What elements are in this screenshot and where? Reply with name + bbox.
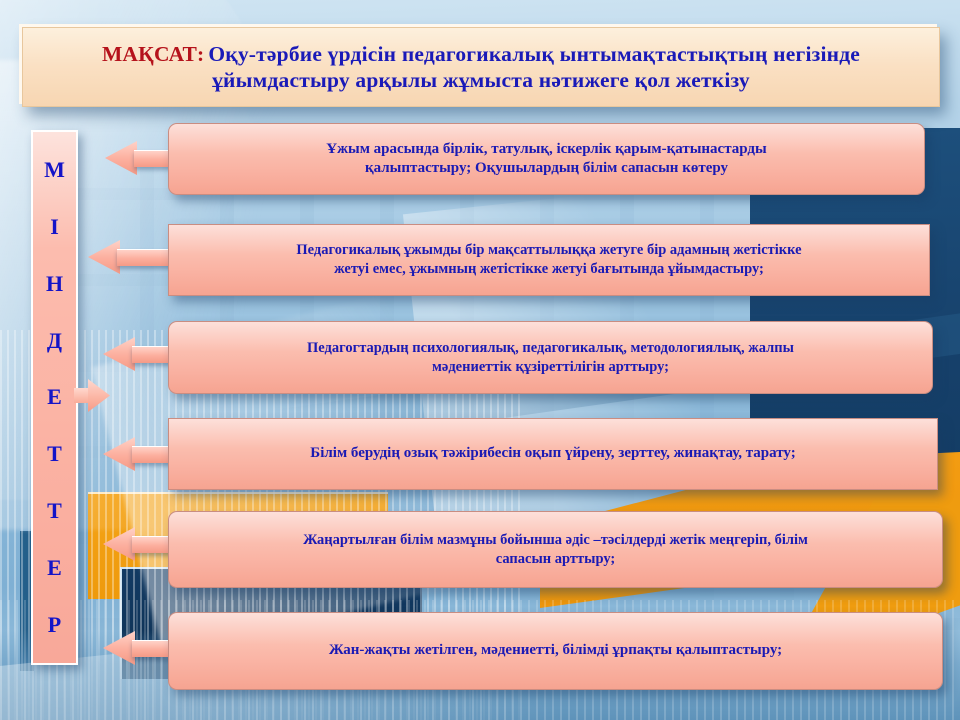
arrow-head bbox=[103, 527, 135, 561]
goal-banner: МАҚСАТ: Оқу-тәрбие үрдісін педагогикалық… bbox=[22, 27, 940, 107]
goal-banner-label: МАҚСАТ: bbox=[102, 42, 204, 66]
task-box-5-line-2: сапасын арттыру; bbox=[496, 551, 615, 567]
connector-arrow-1-icon bbox=[105, 141, 175, 175]
task-box-1[interactable]: Ұжым арасында бірлік, татулық, іскерлік … bbox=[168, 123, 925, 195]
sidebar-letter-7: Е bbox=[47, 557, 62, 579]
connector-arrow-4-icon bbox=[103, 437, 175, 471]
task-box-4-text: Білім берудің озық тәжірибесін оқып үйре… bbox=[310, 444, 795, 464]
slide-canvas: МАҚСАТ: Оқу-тәрбие үрдісін педагогикалық… bbox=[0, 0, 960, 720]
task-box-1-line-2: қалыптастыру; Оқушылардың білім сапасын … bbox=[365, 160, 728, 176]
task-box-2-text: Педагогикалық ұжымды бір мақсаттылыққа ж… bbox=[296, 241, 801, 279]
task-box-4[interactable]: Білім берудің озық тәжірибесін оқып үйре… bbox=[168, 418, 938, 490]
task-box-6[interactable]: Жан-жақты жетілген, мәдениетті, білімді … bbox=[168, 612, 943, 690]
sidebar-letter-4: Е bbox=[47, 386, 62, 408]
task-box-6-line-1: Жан-жақты жетілген, мәдениетті, білімді … bbox=[329, 642, 782, 658]
task-box-2-line-2: жетуі емес, ұжымның жетістікке жетуі бағ… bbox=[334, 261, 764, 277]
connector-arrow-6-icon bbox=[103, 631, 175, 665]
connector-arrow-3-icon bbox=[103, 337, 175, 371]
arrow-head bbox=[105, 141, 137, 175]
sidebar-letter-5: Т bbox=[47, 443, 62, 465]
arrow-shaft bbox=[74, 388, 90, 403]
sidebar-letter-3: Д bbox=[47, 330, 62, 352]
task-box-3-line-2: мәдениеттік құзіреттілігін арттыру; bbox=[432, 359, 669, 375]
arrow-shaft bbox=[117, 249, 175, 266]
arrow-head bbox=[103, 337, 135, 371]
tasks-vertical-label: М І Н Д Е Т Т Е Р bbox=[31, 130, 78, 665]
task-box-3-line-1: Педагогтардың психологиялық, педагогикал… bbox=[307, 340, 794, 356]
task-box-1-line-1: Ұжым арасында бірлік, татулық, іскерлік … bbox=[326, 141, 766, 157]
goal-banner-line-1: Оқу-тәрбие үрдісін педагогикалық ынтымақ… bbox=[208, 42, 860, 66]
arrow-head bbox=[88, 240, 120, 274]
sidebar-letter-2: Н bbox=[46, 273, 63, 295]
task-box-2-line-1: Педагогикалық ұжымды бір мақсаттылыққа ж… bbox=[296, 242, 801, 258]
task-box-5-text: Жаңартылған білім мазмұны бойынша әдіс –… bbox=[303, 531, 808, 569]
task-box-5-line-1: Жаңартылған білім мазмұны бойынша әдіс –… bbox=[303, 532, 808, 548]
task-box-1-text: Ұжым арасында бірлік, татулық, іскерлік … bbox=[326, 140, 766, 179]
goal-banner-line-2: ұйымдастыру арқылы жұмыста нәтижеге қол … bbox=[212, 68, 750, 92]
task-box-3-text: Педагогтардың психологиялық, педагогикал… bbox=[307, 339, 794, 377]
task-box-2[interactable]: Педагогикалық ұжымды бір мақсаттылыққа ж… bbox=[168, 224, 930, 296]
task-box-5[interactable]: Жаңартылған білім мазмұны бойынша әдіс –… bbox=[168, 511, 943, 588]
connector-arrow-2-icon bbox=[88, 240, 175, 274]
task-box-4-line-1: Білім берудің озық тәжірибесін оқып үйре… bbox=[310, 445, 795, 461]
arrow-head bbox=[103, 631, 135, 665]
sidebar-letter-8: Р bbox=[48, 614, 61, 636]
sidebar-letter-6: Т bbox=[47, 500, 62, 522]
task-box-3[interactable]: Педагогтардың психологиялық, педагогикал… bbox=[168, 321, 933, 394]
sidebar-letter-0: М bbox=[44, 159, 65, 181]
sidebar-outgoing-arrow-icon bbox=[74, 379, 110, 412]
sidebar-letter-1: І bbox=[50, 216, 59, 238]
connector-arrow-5-icon bbox=[103, 527, 175, 561]
arrow-head bbox=[88, 379, 110, 412]
goal-banner-text-block: МАҚСАТ: Оқу-тәрбие үрдісін педагогикалық… bbox=[102, 41, 860, 93]
task-box-6-text: Жан-жақты жетілген, мәдениетті, білімді … bbox=[329, 641, 782, 661]
arrow-head bbox=[103, 437, 135, 471]
